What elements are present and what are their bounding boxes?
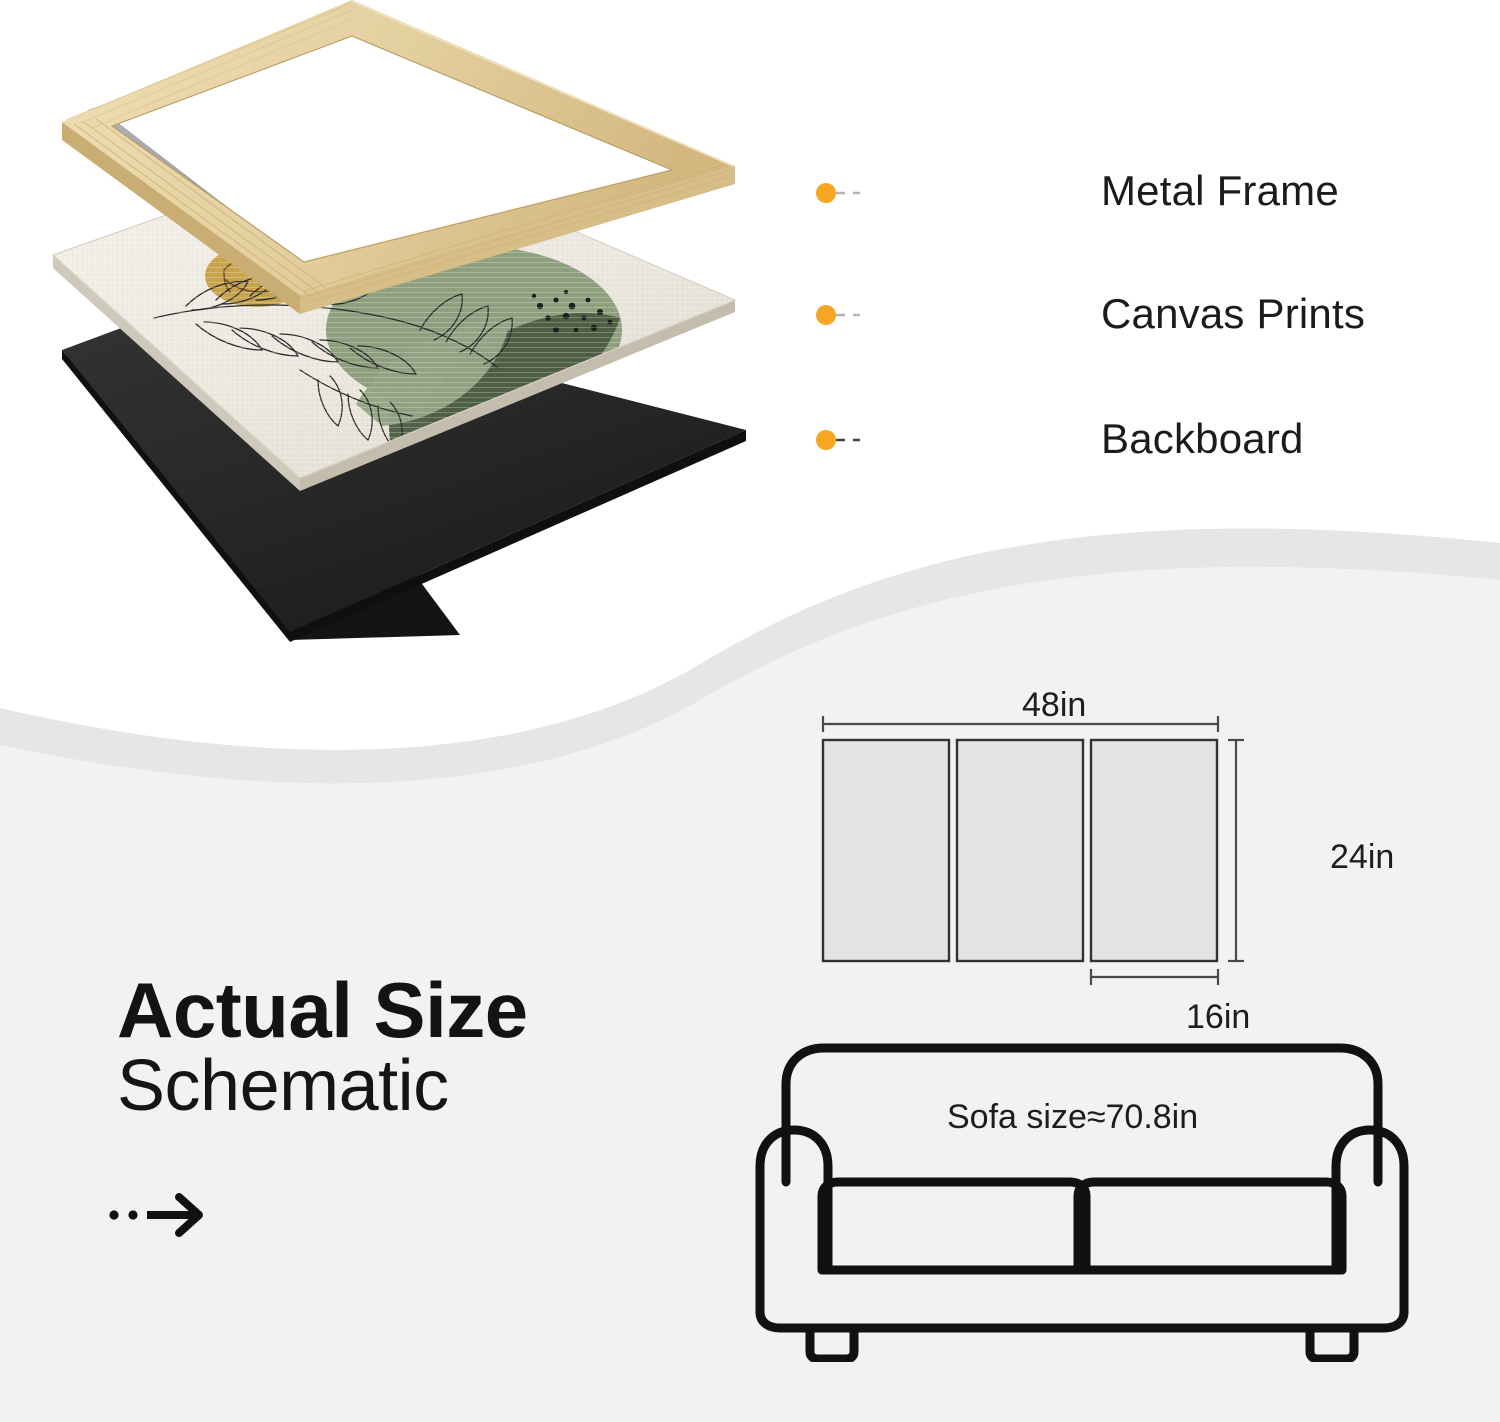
- panel-1: [823, 740, 949, 961]
- callout-dot-canvas: [816, 305, 836, 325]
- callout-leaders: [836, 193, 860, 440]
- dimension-line-height: [1228, 740, 1244, 961]
- sofa-reference-illustration: [752, 1032, 1412, 1362]
- heading-line-schematic: Schematic: [117, 1048, 677, 1126]
- dimension-line-total-width: [823, 716, 1218, 732]
- callout-dots: [816, 183, 836, 450]
- panel-2: [957, 740, 1083, 961]
- dimension-line-panel-width: [1091, 969, 1218, 985]
- exploded-frame-illustration: [0, 0, 860, 680]
- product-infographic: Metal Frame Canvas Prints Backboard Actu…: [0, 0, 1500, 1422]
- callout-dot-backboard: [816, 430, 836, 450]
- sofa-leg-right: [1310, 1328, 1354, 1359]
- dimension-label-height: 24in: [1330, 840, 1394, 874]
- callout-label-metal-frame: Metal Frame: [1101, 170, 1339, 212]
- callout-label-canvas-prints: Canvas Prints: [1101, 293, 1365, 335]
- panel-3: [1091, 740, 1217, 961]
- dimension-label-total-width: 48in: [1022, 688, 1086, 722]
- dotted-right-arrow-icon: [105, 1188, 235, 1242]
- dimension-label-panel-width: 16in: [1186, 1000, 1250, 1034]
- callout-label-backboard: Backboard: [1101, 418, 1304, 460]
- section-heading: Actual Size Schematic: [117, 972, 677, 1126]
- sofa-size-label: Sofa size≈70.8in: [947, 1100, 1198, 1134]
- sofa-leg-left: [810, 1328, 854, 1359]
- sofa-cushion-right: [1078, 1182, 1342, 1270]
- panel-group: [823, 740, 1217, 961]
- sofa-cushion-left: [822, 1182, 1086, 1270]
- heading-line-actual-size: Actual Size: [117, 972, 677, 1048]
- callout-dot-metal-frame: [816, 183, 836, 203]
